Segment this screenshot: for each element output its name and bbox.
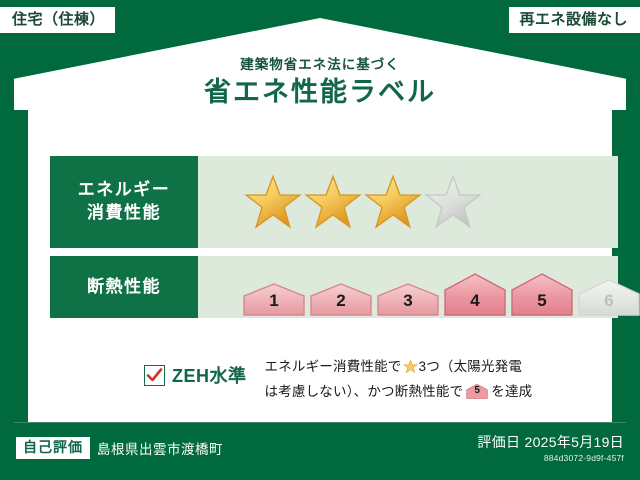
thermal-badge-2: 2 [309, 282, 373, 318]
renewable-energy-tag: 再エネ設備なし [509, 7, 640, 33]
zeh-checkbox [144, 365, 165, 386]
energy-performance-label-box: エネルギー 消費性能 [50, 156, 198, 248]
evaluation-id: 884d3072-9d9f-457f [477, 453, 624, 463]
address-text: 島根県出雲市渡橋町 [97, 438, 223, 458]
energy-performance-label: 住宅（住棟） 再エネ設備なし 建築物省エネ法に基づく 省エネ性能ラベル エネルギ… [0, 0, 640, 480]
energy-rating-body [198, 156, 618, 248]
thermal-rating-body: 1 2 3 [198, 256, 640, 318]
zeh-desc-badge-number: 5 [466, 383, 488, 400]
house-badge-icon [376, 282, 440, 318]
thermal-badge-1: 1 [242, 282, 306, 318]
house-badge-icon [577, 278, 640, 318]
energy-label-line1: エネルギー [78, 179, 171, 202]
check-icon [146, 367, 163, 384]
footer-right-group: 評価日 2025年5月19日 884d3072-9d9f-457f [477, 434, 624, 463]
footer: 自己評価 島根県出雲市渡橋町 評価日 2025年5月19日 884d3072-9… [0, 422, 640, 480]
house-badge-icon [443, 272, 507, 318]
house-badge-icon [309, 282, 373, 318]
star-icon [304, 173, 362, 231]
zeh-desc-text-d: を達成 [491, 384, 532, 399]
footer-left-group: 自己評価 島根県出雲市渡橋町 [16, 437, 223, 459]
page-title: 省エネ性能ラベル [14, 76, 626, 110]
zeh-desc-text-a: エネルギー消費性能で [265, 359, 402, 374]
star-icon-empty [424, 173, 482, 231]
energy-performance-row: エネルギー 消費性能 [50, 156, 618, 248]
subtitle: 建築物省エネ法に基づく [14, 58, 626, 73]
house-badge-icon [510, 272, 574, 318]
thermal-badge-6: 6 [577, 278, 640, 318]
thermal-badge-3: 3 [376, 282, 440, 318]
zeh-label-group: ZEH水準 [50, 356, 247, 388]
thermal-label-line1: 断熱性能 [87, 276, 161, 299]
house-badge-icon [242, 282, 306, 318]
zeh-desc-text-b: 3つ（太陽光発電 [419, 359, 523, 374]
thermal-badge-5: 5 [510, 272, 574, 318]
rating-rows: エネルギー 消費性能 [50, 156, 618, 326]
star-rating [214, 173, 482, 231]
zeh-desc-text-c: は考慮しない）、かつ断熱性能で [265, 384, 464, 399]
building-type-tag: 住宅（住棟） [0, 7, 115, 33]
self-evaluation-badge: 自己評価 [16, 437, 90, 459]
star-icon [403, 359, 418, 381]
zeh-description-line1: エネルギー消費性能で3つ（太陽光発電 [265, 356, 533, 381]
zeh-description: エネルギー消費性能で3つ（太陽光発電 は考慮しない）、かつ断熱性能で5を達成 [265, 356, 533, 404]
thermal-badge-4: 4 [443, 272, 507, 318]
evaluation-date-value: 2025年5月19日 [524, 434, 624, 450]
star-icon [364, 173, 422, 231]
house-badge-icon: 5 [466, 383, 488, 400]
zeh-section: ZEH水準 エネルギー消費性能で3つ（太陽光発電 は考慮しない）、かつ断熱性能で… [50, 356, 618, 404]
house-shape: 建築物省エネ法に基づく 省エネ性能ラベル エネルギー 消費性能 [14, 18, 626, 422]
evaluation-date-label: 評価日 [477, 434, 520, 450]
zeh-title: ZEH水準 [172, 362, 247, 388]
footer-divider [14, 422, 626, 423]
title-block: 建築物省エネ法に基づく 省エネ性能ラベル [14, 58, 626, 110]
star-icon [244, 173, 302, 231]
thermal-level-badges: 1 2 3 [214, 256, 640, 318]
thermal-performance-row: 断熱性能 [50, 256, 618, 318]
energy-label-line2: 消費性能 [87, 202, 161, 225]
thermal-performance-label-box: 断熱性能 [50, 256, 198, 318]
zeh-description-line2: は考慮しない）、かつ断熱性能で5を達成 [265, 381, 533, 403]
evaluation-date: 評価日 2025年5月19日 [477, 434, 624, 451]
